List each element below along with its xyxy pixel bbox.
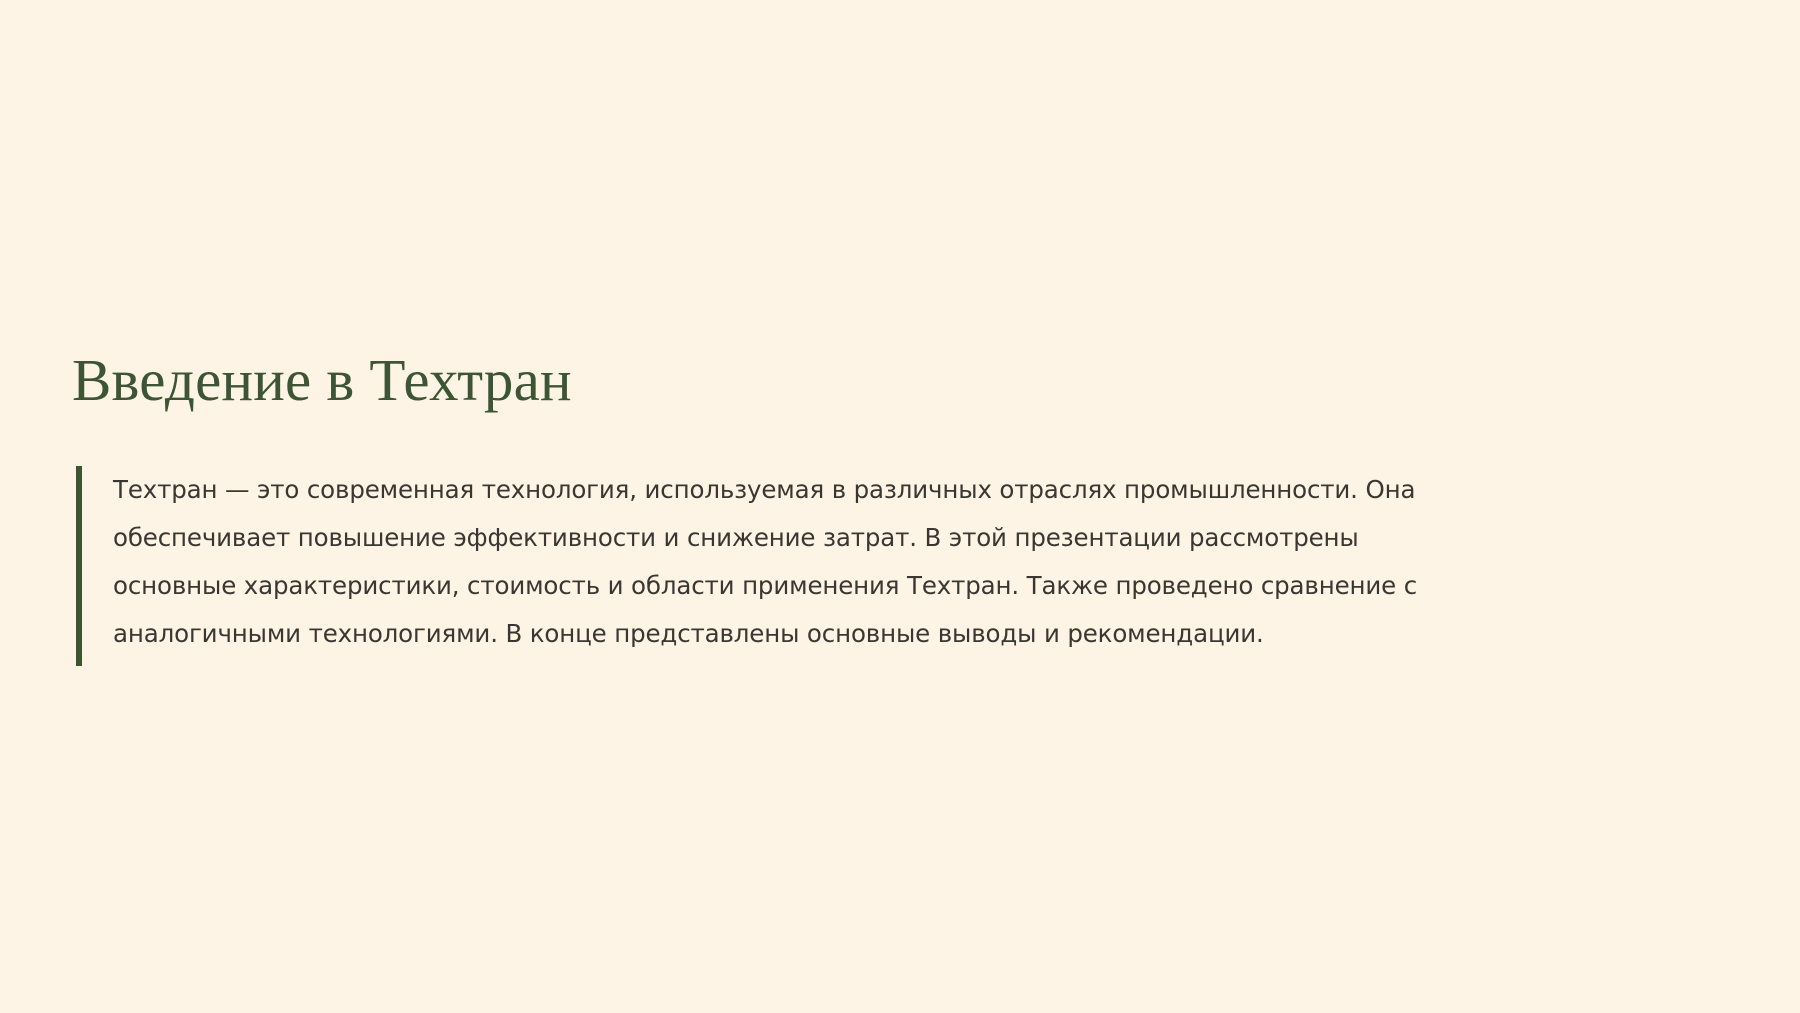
presentation-slide: Введение в Техтран Техтран — это совреме… (0, 0, 1800, 1013)
slide-content-area: Введение в Техтран Техтран — это совреме… (0, 0, 1800, 1013)
body-quote-block: Техтран — это современная технология, ис… (76, 466, 1636, 666)
page-title: Введение в Техтран (72, 344, 572, 416)
body-paragraph: Техтран — это современная технология, ис… (82, 466, 1483, 666)
